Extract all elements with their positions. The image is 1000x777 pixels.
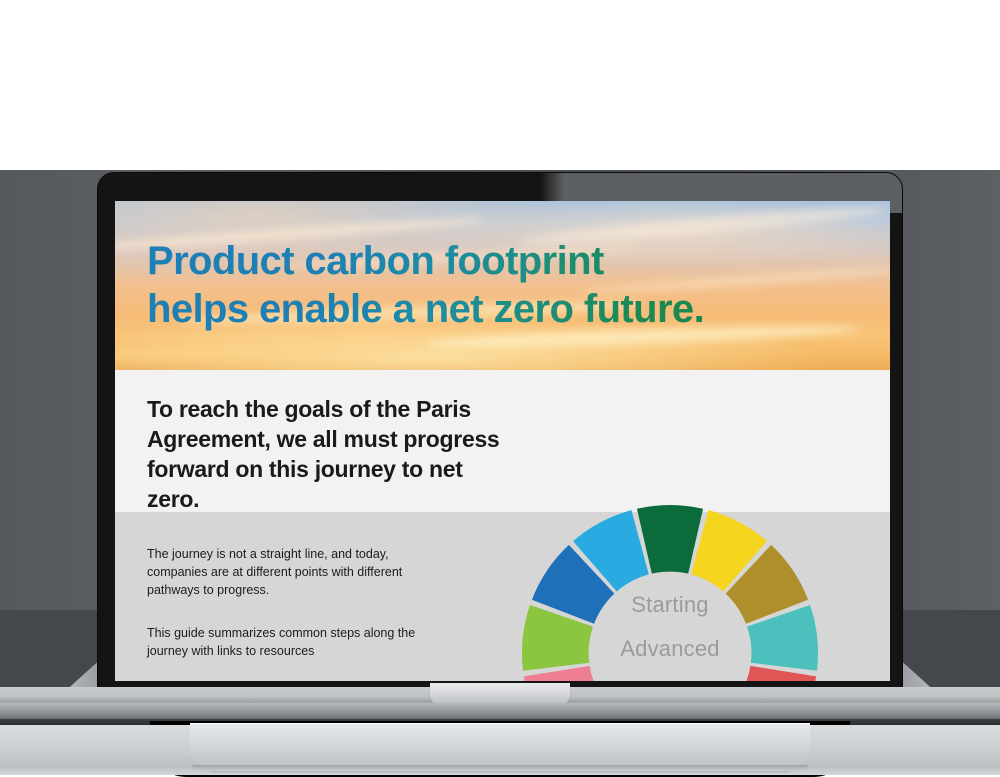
laptop-screen: Product carbon footprint helps enable a … — [115, 201, 890, 681]
intro-paragraph: The journey is not a straight line, and … — [147, 545, 422, 599]
progress-donut-chart: Starting Advanced — [505, 488, 835, 681]
donut-label-advanced: Advanced — [505, 636, 835, 662]
laptop-lid: Product carbon footprint helps enable a … — [98, 173, 902, 698]
laptop-mockup: Product carbon footprint helps enable a … — [0, 165, 1000, 775]
headline-text: To reach the goals of the Paris Agreemen… — [147, 394, 507, 514]
donut-segment-dark-green — [637, 505, 703, 574]
laptop-base-lip — [192, 765, 808, 771]
page-title: Product carbon footprint helps enable a … — [147, 237, 847, 333]
screenshot-stage: Product carbon footprint helps enable a … — [0, 0, 1000, 775]
donut-label-starting: Starting — [505, 592, 835, 618]
hero-banner: Product carbon footprint helps enable a … — [115, 201, 890, 370]
page-title-line2: helps enable a net zero future. — [147, 285, 847, 333]
page-title-line1: Product carbon footprint — [147, 239, 604, 283]
guide-paragraph: This guide summarizes common steps along… — [147, 624, 432, 660]
content-area: To reach the goals of the Paris Agreemen… — [115, 370, 890, 681]
